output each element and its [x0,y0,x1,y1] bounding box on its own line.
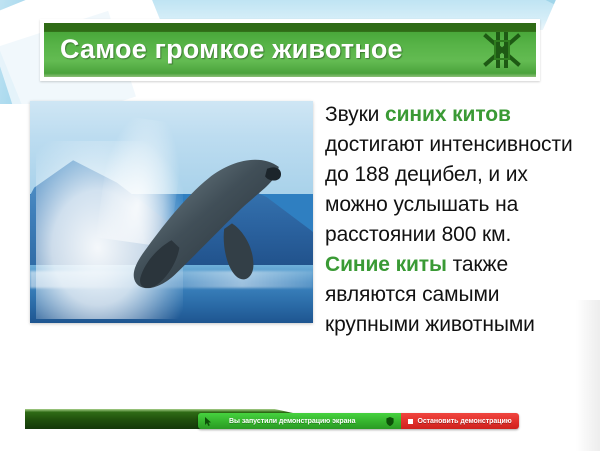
highlight-blue-whales: синих китов [385,103,511,126]
presentation-slide: Самое громкое животное [0,0,600,451]
stop-sharing-label: Остановить демонстрацию [417,418,511,425]
slide-title-banner: Самое громкое животное [40,19,540,81]
body-paragraph-2: Синие киты также являются самыми крупным… [325,250,587,340]
slide-body-text: Звуки синих китов достигают интенсивност… [325,100,587,340]
body-text-segment: Звуки [325,103,385,126]
highlight-blue-whales-2: Синие киты [325,253,447,276]
page-title: Самое громкое животное [60,34,403,65]
body-text-segment: достигают интенсивности до 188 децибел, … [325,133,573,246]
body-paragraph-1: Звуки синих китов достигают интенсивност… [325,100,587,250]
stop-sharing-button[interactable]: Остановить демонстрацию [401,413,518,429]
photo-whale-silhouette [115,150,290,310]
shield-icon[interactable] [386,417,394,426]
screen-share-toolbar[interactable]: Вы запустили демонстрацию экрана Останов… [198,413,519,429]
cursor-pointer-icon [204,417,212,426]
screen-share-message: Вы запустили демонстрацию экрана [217,418,381,425]
stop-square-icon [408,419,413,424]
title-bar-fill: Самое громкое животное [44,23,536,77]
crossed-weave-icon [480,30,524,70]
screen-share-status: Вы запустили демонстрацию экрана [198,413,401,429]
whale-photo [30,101,313,323]
